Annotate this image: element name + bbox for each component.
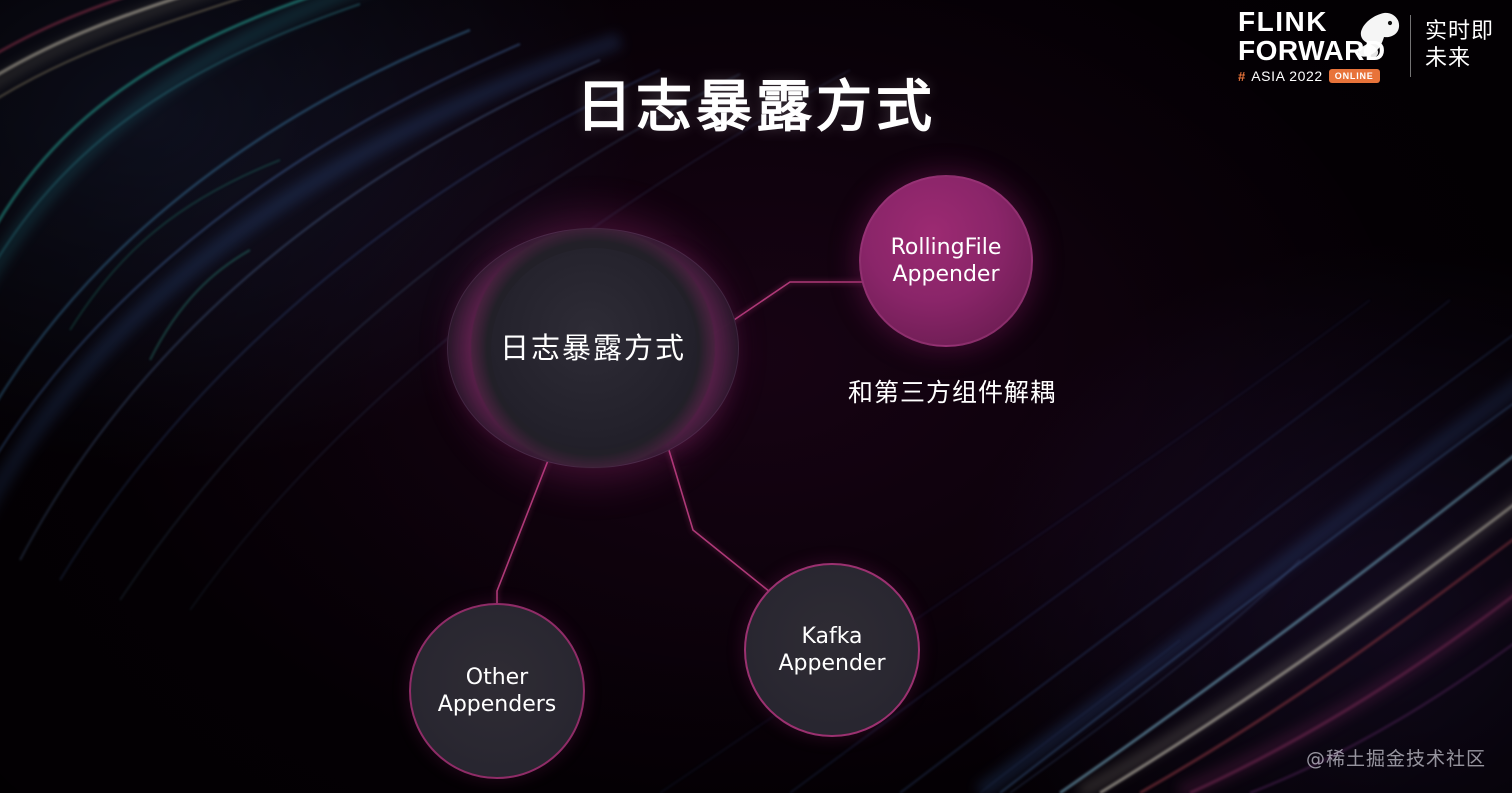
hash-symbol: #	[1238, 69, 1245, 84]
annotation-decoupling: 和第三方组件解耦	[848, 373, 1056, 409]
node-kafka-label: Kafka Appender	[778, 623, 885, 678]
slide-root: FLINK FORWARD # ASIA 2022 ONLINE 实时即 未来 …	[0, 0, 1512, 793]
flink-squirrel-icon	[1354, 10, 1402, 64]
chinese-tagline: 实时即 未来	[1425, 19, 1494, 73]
online-badge: ONLINE	[1329, 69, 1380, 83]
node-kafka-appender[interactable]: Kafka Appender	[744, 563, 920, 737]
node-rollingfile-label: RollingFile Appender	[891, 234, 1002, 289]
edition-label: ASIA 2022	[1251, 68, 1323, 84]
flink-forward-logo: FLINK FORWARD # ASIA 2022 ONLINE 实时即 未来	[1238, 8, 1494, 84]
logo-divider	[1410, 15, 1411, 77]
brand-edition-row: # ASIA 2022 ONLINE	[1238, 68, 1396, 84]
node-other-appenders[interactable]: Other Appenders	[409, 603, 585, 779]
hub-node-label: 日志暴露方式	[447, 228, 739, 468]
flink-forward-wordmark: FLINK FORWARD # ASIA 2022 ONLINE	[1238, 8, 1396, 84]
hub-node[interactable]: 日志暴露方式	[447, 228, 739, 468]
node-rollingfile-appender[interactable]: RollingFile Appender	[859, 175, 1033, 347]
watermark: @稀土掘金技术社区	[1306, 744, 1486, 771]
node-other-label: Other Appenders	[438, 664, 556, 719]
